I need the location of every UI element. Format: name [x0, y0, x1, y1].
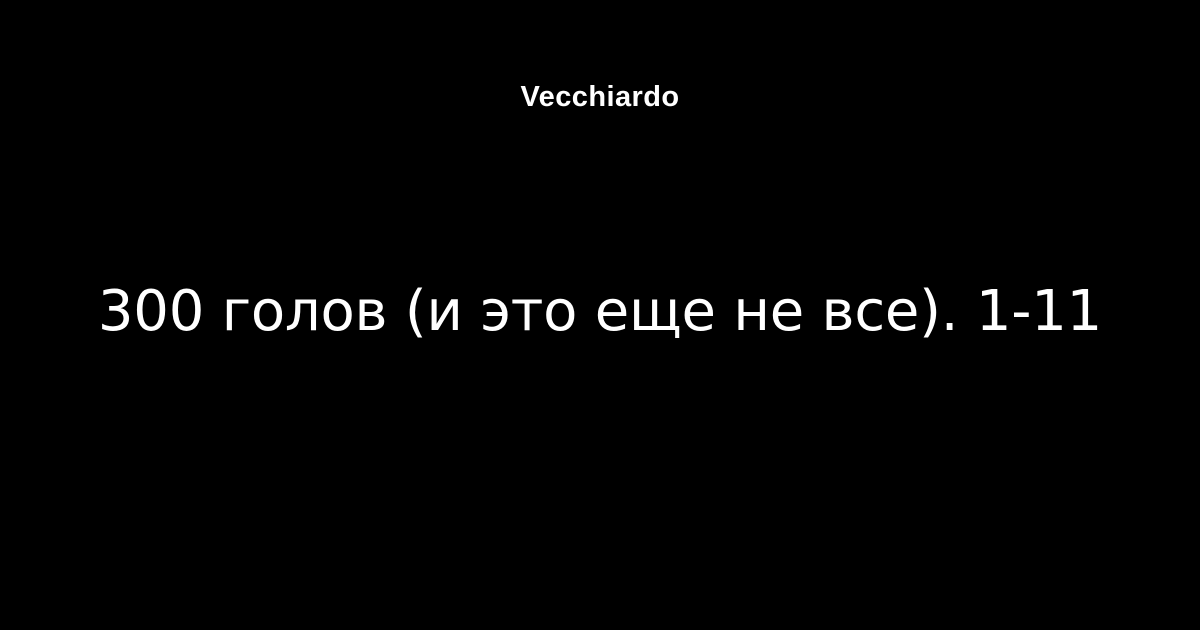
site-title: Vecchiardo [520, 83, 679, 112]
site-title-area: Vecchiardo [0, 0, 1200, 112]
article-headline: 300 голов (и это еще не все). 1-11 [98, 279, 1102, 345]
headline-area: 300 голов (и это еще не все). 1-11 [0, 112, 1200, 512]
footer-spacer [0, 512, 1200, 630]
preview-card: Vecchiardo 300 голов (и это еще не все).… [0, 0, 1200, 630]
